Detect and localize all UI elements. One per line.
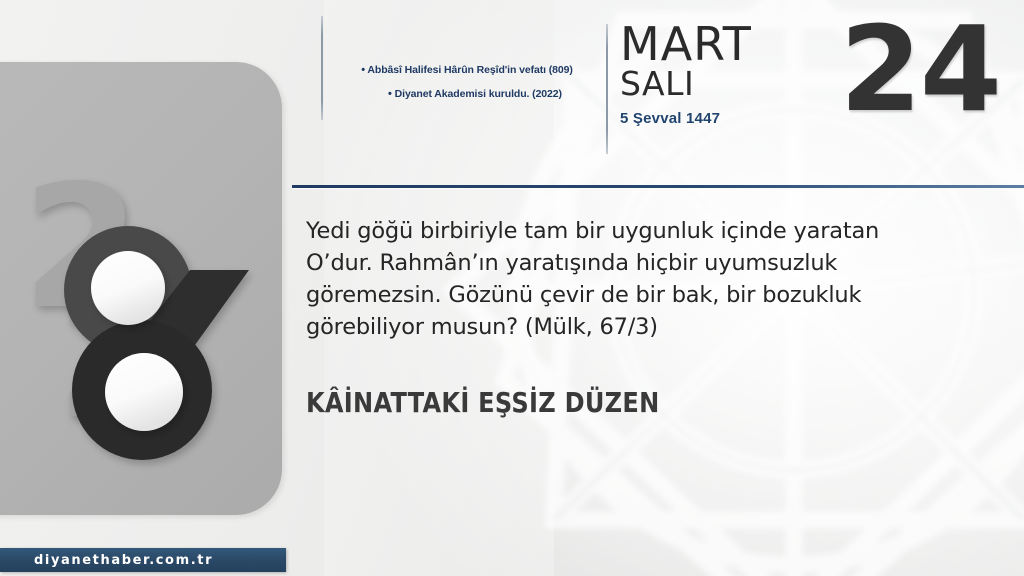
bullet-icon: •	[388, 88, 392, 100]
page-title: KÂİNATTAKİ EŞSİZ DÜZEN	[306, 386, 659, 419]
hijri-date-label: 5 Şevval 1447	[620, 110, 835, 127]
verse-text: Yedi göğü birbiriyle tam bir uygunluk iç…	[306, 216, 916, 344]
site-url-label: diyanethaber.com.tr	[34, 553, 213, 568]
date-block: MART SALI 5 Şevval 1447	[620, 22, 835, 127]
calendar-page: 2 2 • Abbâsî Halifesi Hârûn Reşîd'in vef…	[0, 0, 1024, 576]
day-number: 24	[840, 10, 1000, 128]
historical-events-list: • Abbâsî Halifesi Hârûn Reşîd'in vefatı …	[338, 64, 596, 111]
month-label: MART	[620, 22, 835, 66]
weekday-label: SALI	[620, 66, 835, 102]
year-logo-2026: 2 2	[14, 178, 282, 478]
vertical-separator-left	[321, 16, 323, 120]
list-item: • Abbâsî Halifesi Hârûn Reşîd'in vefatı …	[338, 64, 596, 77]
event-text: Abbâsî Halifesi Hârûn Reşîd'in vefatı (8…	[367, 64, 572, 76]
footer-url-bar[interactable]: diyanethaber.com.tr	[0, 548, 286, 572]
event-text: Diyanet Akademisi kuruldu. (2022)	[395, 88, 562, 100]
bullet-icon: •	[361, 64, 365, 76]
vertical-separator-right	[606, 24, 608, 154]
horizontal-divider	[292, 185, 1024, 188]
list-item: • Diyanet Akademisi kuruldu. (2022)	[354, 88, 596, 101]
